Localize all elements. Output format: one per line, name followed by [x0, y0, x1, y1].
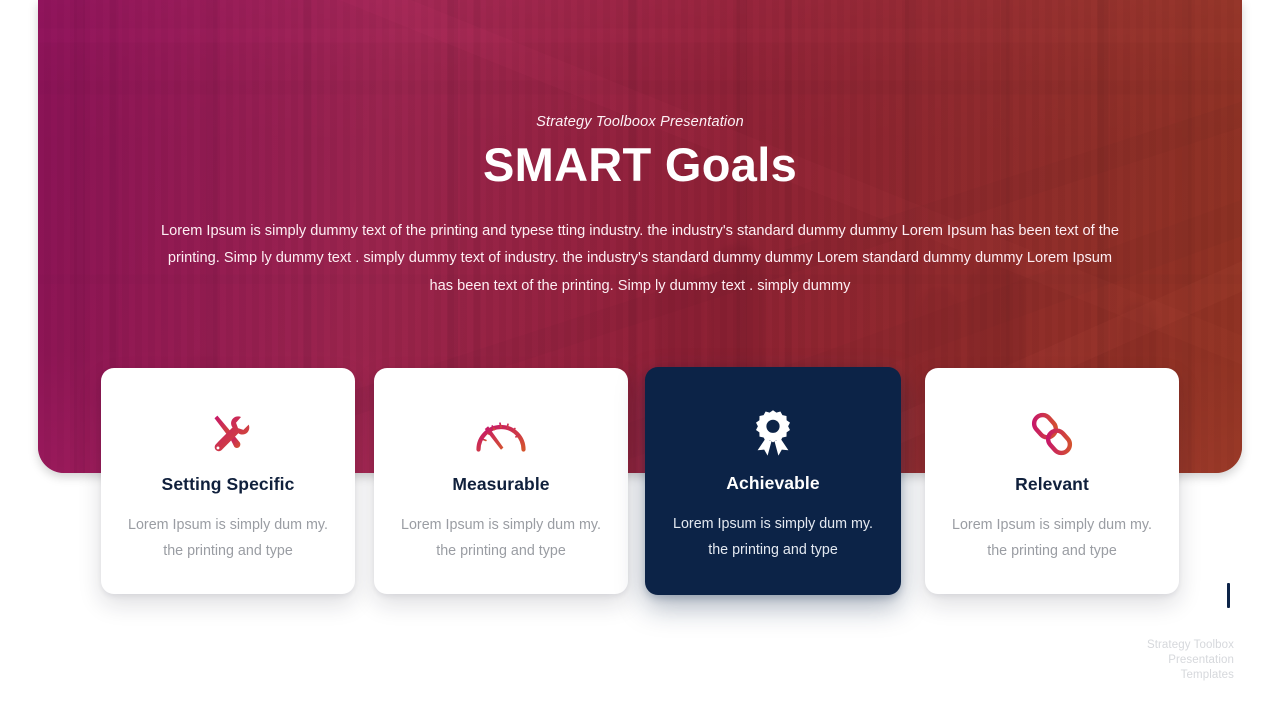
page-title: SMART Goals [158, 139, 1122, 192]
smart-card-row: Setting Specific Lorem Ipsum is simply d… [0, 367, 1280, 597]
footer-line-2: Presentation [994, 653, 1234, 668]
footer-line-3: Templates [994, 668, 1234, 683]
card-description: Lorem Ipsum is simply dum my. the printi… [947, 513, 1157, 564]
card-description: Lorem Ipsum is simply dum my. the printi… [667, 512, 879, 563]
hero-description: Lorem Ipsum is simply dummy text of the … [158, 218, 1122, 300]
smart-goals-slide: Strategy Toolboox Presentation SMART Goa… [0, 0, 1280, 720]
hero-eyebrow: Strategy Toolboox Presentation [158, 112, 1122, 132]
card-title: Measurable [396, 474, 606, 495]
card-title: Setting Specific [123, 474, 333, 495]
card-description: Lorem Ipsum is simply dum my. the printi… [123, 513, 333, 564]
speedometer-icon [396, 410, 606, 458]
card-relevant[interactable]: Relevant Lorem Ipsum is simply dum my. t… [925, 368, 1179, 594]
footer-accent-bar [1227, 583, 1230, 608]
card-setting-specific[interactable]: Setting Specific Lorem Ipsum is simply d… [101, 368, 355, 594]
tools-icon [123, 410, 333, 458]
chain-link-icon [947, 410, 1157, 458]
card-title: Relevant [947, 474, 1157, 495]
card-description: Lorem Ipsum is simply dum my. the printi… [396, 513, 606, 564]
card-title: Achievable [667, 473, 879, 494]
hero-text-block: Strategy Toolboox Presentation SMART Goa… [38, 112, 1242, 300]
award-ribbon-icon [667, 409, 879, 457]
footer-watermark: Strategy Toolbox Presentation Templates [994, 638, 1234, 684]
card-achievable[interactable]: Achievable Lorem Ipsum is simply dum my.… [645, 367, 901, 595]
card-measurable[interactable]: Measurable Lorem Ipsum is simply dum my.… [374, 368, 628, 594]
footer-line-1: Strategy Toolbox [994, 638, 1234, 653]
